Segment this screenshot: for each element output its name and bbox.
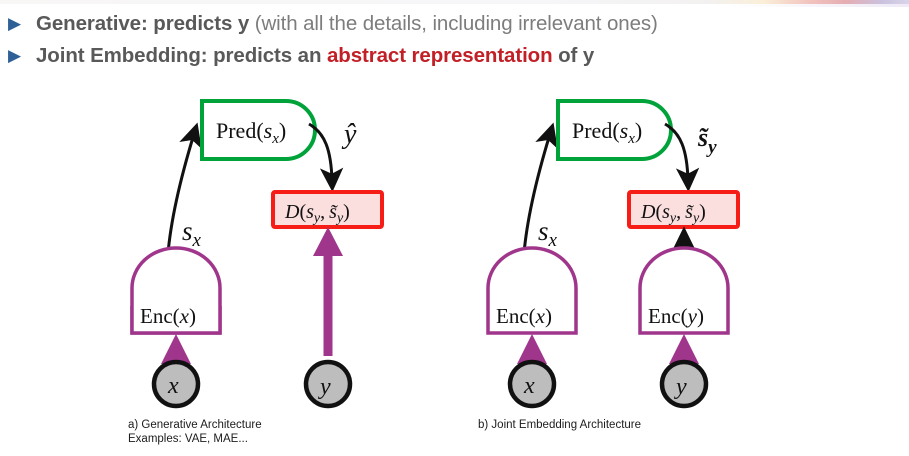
bullet-joint-highlight: abstract representation bbox=[327, 44, 553, 67]
node-enc-y-label: Enc(y) bbox=[648, 304, 704, 328]
bullet-item-joint-embedding-text: Joint Embedding: predicts an abstract re… bbox=[36, 44, 594, 68]
architecture-diagrams: sx Pred(sx) ŷ D(sy, s̃y) Enc(x) bbox=[0, 88, 909, 456]
label-s-y-tilde: s̃y bbox=[697, 123, 717, 158]
bullet-list: ▶ Generative: predicts y (with all the d… bbox=[8, 12, 903, 76]
input-node-x-label: x bbox=[523, 373, 535, 399]
input-node-y-label: y bbox=[318, 374, 331, 400]
node-enc-x-label: Enc(x) bbox=[140, 304, 196, 328]
label-s-x: sx bbox=[538, 216, 558, 251]
label-y-tilde: ŷ bbox=[341, 119, 357, 150]
bullet-item-generative: ▶ Generative: predicts y (with all the d… bbox=[8, 12, 903, 44]
bullet-triangle-icon: ▶ bbox=[8, 15, 36, 32]
diagram-generative-architecture: sx Pred(sx) ŷ D(sy, s̃y) Enc(x) bbox=[110, 88, 420, 456]
label-s-x: sx bbox=[182, 216, 202, 251]
bullet-generative-bold: Generative: predicts y bbox=[36, 12, 255, 35]
input-node-y-label: y bbox=[674, 374, 687, 400]
bullet-joint-tail: of y bbox=[553, 44, 595, 67]
node-enc-x-label: Enc(x) bbox=[496, 304, 552, 328]
caption-joint-embedding-architecture: b) Joint Embedding Architecture bbox=[478, 418, 641, 432]
bullet-generative-detail: (with all the details, including irrelev… bbox=[255, 12, 658, 35]
bullet-triangle-icon: ▶ bbox=[8, 47, 36, 64]
bullet-joint-bold: Joint Embedding: predicts an bbox=[36, 44, 327, 67]
diagram-b-canvas: sx Pred(sx) s̃y D(sy, s̃y) sy Enc(x) Enc… bbox=[460, 88, 780, 428]
caption-generative-architecture: a) Generative Architecture Examples: VAE… bbox=[128, 418, 262, 446]
diagram-a-canvas: sx Pred(sx) ŷ D(sy, s̃y) Enc(x) bbox=[110, 88, 420, 428]
diagram-joint-embedding-architecture: sx Pred(sx) s̃y D(sy, s̃y) sy Enc(x) Enc… bbox=[460, 88, 780, 456]
top-white-strip bbox=[0, 4, 909, 7]
bullet-item-generative-text: Generative: predicts y (with all the det… bbox=[36, 12, 658, 36]
input-node-x-label: x bbox=[167, 373, 179, 399]
arrow-y-to-distance bbox=[313, 227, 343, 356]
bullet-item-joint-embedding: ▶ Joint Embedding: predicts an abstract … bbox=[8, 44, 903, 76]
